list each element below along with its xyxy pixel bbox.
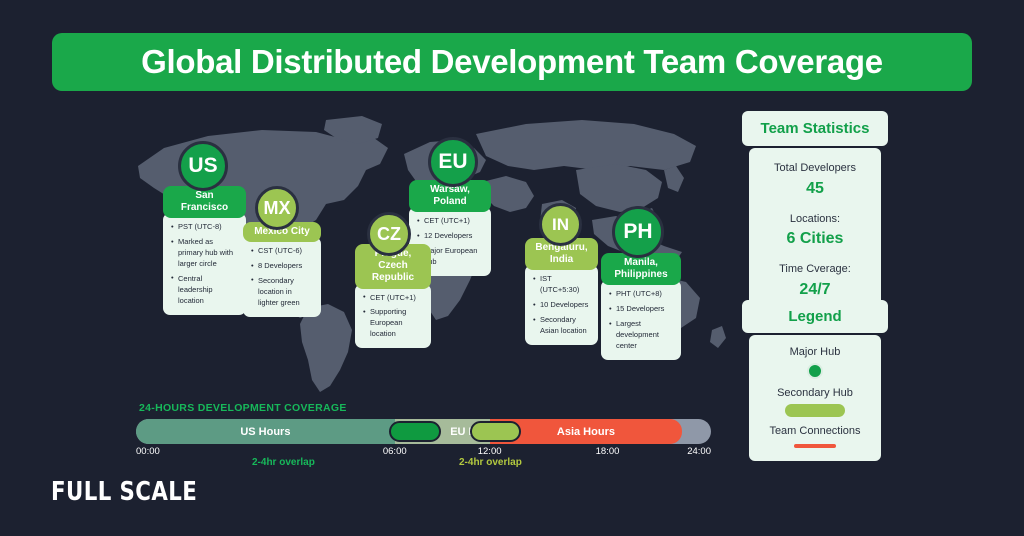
location-detail-list: CET (UTC+1) Supporting European location	[363, 293, 423, 341]
location-detail-list: PHT (UTC+8) 15 Developers Largest develo…	[609, 289, 673, 351]
timeline-overlap-note-second: 2-4hr overlap	[459, 457, 522, 468]
legend-item-major-hub: Major Hub	[757, 346, 873, 379]
timeline-overlap-note-first: 2-4hr overlap	[252, 457, 315, 468]
legend-panel: Legend Major Hub Secondary Hub Team Conn…	[742, 300, 888, 461]
location-detail: CET (UTC+1)	[417, 216, 483, 227]
location-detail: IST (UTC+5:30)	[533, 274, 590, 296]
page-title-text: Global Distributed Development Team Cove…	[141, 43, 883, 81]
location-card-manila[interactable]: Manila, Philippines PHT (UTC+8) 15 Devel…	[601, 253, 681, 360]
map-pin-mx-label: MX	[264, 198, 291, 219]
location-card-body: PST (UTC-8) Marked as primary hub with l…	[163, 213, 246, 314]
map-pin-us-label: US	[188, 154, 217, 178]
stat-value: 24/7	[757, 278, 873, 301]
team-statistics-panel: Team Statistics Total Developers 45 Loca…	[742, 111, 888, 315]
secondary-hub-pill-icon	[785, 404, 845, 417]
location-card-prague[interactable]: Prague, Czech Republic CET (UTC+1) Suppo…	[355, 244, 431, 348]
timeline-title: 24-HOURS DEVELOPMENT COVERAGE	[139, 402, 347, 414]
location-card-body: CST (UTC-6) 8 Developers Secondary locat…	[243, 237, 321, 316]
location-name: Manila, Philippines	[614, 257, 667, 280]
location-detail-list: CST (UTC-6) 8 Developers Secondary locat…	[251, 246, 313, 308]
major-hub-dot-icon	[807, 363, 823, 379]
timeline-overlap-eu-asia	[470, 421, 522, 442]
map-pin-ph-label: PH	[623, 220, 652, 244]
map-pin-eu[interactable]: EU	[428, 137, 478, 187]
legend-title: Legend	[788, 308, 841, 325]
location-detail: Central leadership location	[171, 274, 238, 307]
location-detail-list: PST (UTC-8) Marked as primary hub with l…	[171, 222, 238, 306]
location-card-body: IST (UTC+5:30) 10 Developers Secondary A…	[525, 265, 598, 344]
legend-item-secondary-hub: Secondary Hub	[757, 387, 873, 417]
stat-time-coverage: Time Cverage: 24/7	[757, 261, 873, 301]
location-card-body: PHT (UTC+8) 15 Developers Largest develo…	[601, 280, 681, 359]
team-statistics-body: Total Developers 45 Locations: 6 Cities …	[749, 148, 881, 315]
brand-logo: FULL SCALE	[51, 477, 197, 507]
location-detail: 12 Developers	[417, 231, 483, 242]
location-detail: CST (UTC-6)	[251, 246, 313, 257]
timeline-tick: 24:00	[687, 446, 711, 457]
location-card-san-francisco[interactable]: San Francisco PST (UTC-8) Marked as prim…	[163, 186, 246, 315]
stat-label: Time Cverage:	[757, 261, 873, 278]
legend-header: Legend	[742, 300, 888, 333]
stat-total-developers: Total Developers 45	[757, 160, 873, 200]
stat-value: 6 Cities	[757, 227, 873, 250]
team-statistics-header: Team Statistics	[742, 111, 888, 146]
map-pin-in[interactable]: IN	[539, 203, 582, 246]
location-detail: Secondary Asian location	[533, 315, 590, 337]
location-card-bengaluru[interactable]: Bengaluru, India IST (UTC+5:30) 10 Devel…	[525, 238, 598, 345]
location-name: San Francisco	[181, 190, 228, 213]
stat-locations: Locations: 6 Cities	[757, 211, 873, 251]
location-card-body: CET (UTC+1) Supporting European location	[355, 284, 431, 349]
legend-label: Major Hub	[757, 346, 873, 358]
map-pin-eu-label: EU	[438, 150, 467, 174]
stat-label: Total Developers	[757, 160, 873, 177]
timeline-tick: 00:00	[136, 446, 160, 457]
location-detail: Largest development center	[609, 319, 673, 352]
location-name: Warsaw, Poland	[430, 184, 470, 207]
map-pin-cz-label: CZ	[377, 224, 401, 245]
location-card-mexico-city[interactable]: Mexico City CST (UTC-6) 8 Developers Sec…	[243, 221, 321, 317]
timeline-segment-label: US Hours	[240, 426, 290, 438]
map-pin-us[interactable]: US	[178, 141, 228, 191]
location-detail: CET (UTC+1)	[363, 293, 423, 304]
legend-label: Secondary Hub	[757, 387, 873, 399]
map-pin-in-label: IN	[552, 215, 569, 235]
page-title: Global Distributed Development Team Cove…	[52, 33, 972, 91]
stat-value: 45	[757, 177, 873, 200]
stat-label: Locations:	[757, 211, 873, 228]
location-detail: Secondary location in lighter green	[251, 276, 313, 309]
map-pin-ph[interactable]: PH	[612, 206, 664, 258]
infographic-root: Global Distributed Development Team Cove…	[0, 0, 1024, 536]
legend-item-team-connections: Team Connections	[757, 425, 873, 448]
team-connections-line-icon	[794, 444, 836, 448]
timeline-segment-label: Asia Hours	[557, 426, 615, 438]
timeline-segment-us[interactable]: US Hours	[136, 419, 395, 444]
timeline-tick: 06:00	[383, 446, 407, 457]
location-detail: 10 Developers	[533, 300, 590, 311]
timeline-track: US Hours EU Hours Asia Hours	[136, 419, 711, 444]
location-detail: 15 Developers	[609, 304, 673, 315]
location-card-header: Manila, Philippines	[601, 253, 681, 285]
map-pin-mx[interactable]: MX	[255, 186, 299, 230]
timeline-tick: 18:00	[596, 446, 620, 457]
timeline-overlap-us-eu	[389, 421, 441, 442]
location-detail: 8 Developers	[251, 261, 313, 272]
legend-label: Team Connections	[757, 425, 873, 437]
timeline-tick: 12:00	[478, 446, 502, 457]
location-detail: PHT (UTC+8)	[609, 289, 673, 300]
map-pin-cz[interactable]: CZ	[367, 212, 411, 256]
location-detail: Marked as primary hub with larger circle	[171, 237, 238, 270]
team-statistics-title: Team Statistics	[761, 120, 870, 137]
location-detail-list: IST (UTC+5:30) 10 Developers Secondary A…	[533, 274, 590, 336]
timeline-ticks: 00:00 06:00 12:00 18:00 24:00	[136, 446, 711, 458]
location-detail: PST (UTC-8)	[171, 222, 238, 233]
legend-body: Major Hub Secondary Hub Team Connections	[749, 335, 881, 461]
location-detail: Supporting European location	[363, 307, 423, 340]
